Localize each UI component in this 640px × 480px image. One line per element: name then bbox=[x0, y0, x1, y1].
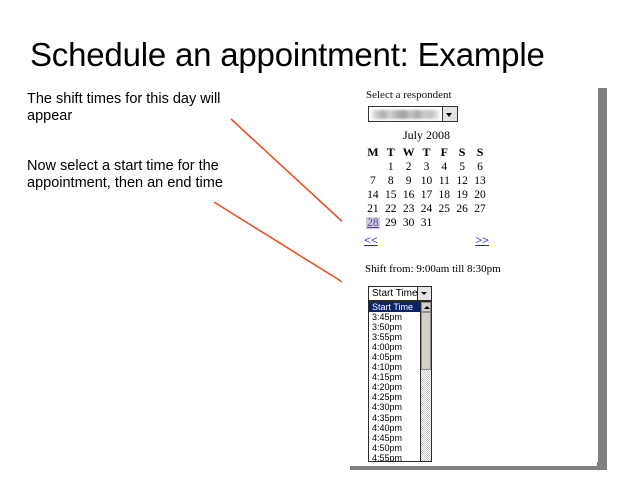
calendar-day[interactable]: 1 bbox=[382, 160, 400, 174]
respondent-select[interactable] bbox=[368, 106, 458, 122]
weekday-header: S bbox=[453, 145, 471, 160]
start-time-option[interactable]: 4:05pm bbox=[369, 352, 420, 362]
calendar-week-row: 14 15 16 17 18 19 20 bbox=[364, 188, 489, 202]
chevron-down-icon[interactable] bbox=[442, 107, 457, 121]
weekday-header: T bbox=[418, 145, 436, 160]
start-time-option[interactable]: 4:25pm bbox=[369, 392, 420, 402]
respondent-value-redacted bbox=[371, 110, 439, 119]
scrollbar-thumb[interactable] bbox=[421, 312, 431, 370]
start-time-option[interactable]: 4:55pm bbox=[369, 453, 420, 462]
page-title: Schedule an appointment: Example bbox=[30, 36, 620, 74]
calendar-day[interactable]: 15 bbox=[382, 188, 400, 202]
calendar-day-empty bbox=[364, 160, 382, 174]
calendar-day[interactable]: 19 bbox=[453, 188, 471, 202]
start-time-option[interactable]: 4:45pm bbox=[369, 433, 420, 443]
calendar-day[interactable]: 8 bbox=[382, 174, 400, 188]
scroll-up-arrow-icon[interactable] bbox=[421, 302, 431, 312]
calendar-day[interactable]: 23 bbox=[400, 202, 418, 216]
calendar-day[interactable]: 14 bbox=[364, 188, 382, 202]
weekday-header: W bbox=[400, 145, 418, 160]
calendar-day[interactable]: 17 bbox=[418, 188, 436, 202]
calendar: July 2008 M T W T F S S bbox=[364, 128, 489, 249]
calendar-week-row: 21 22 23 24 25 26 27 bbox=[364, 202, 489, 216]
calendar-month-label: July 2008 bbox=[364, 128, 489, 145]
calendar-day[interactable]: 16 bbox=[400, 188, 418, 202]
start-time-option[interactable]: 4:00pm bbox=[369, 342, 420, 352]
calendar-day[interactable]: 21 bbox=[364, 202, 382, 216]
start-time-option[interactable]: 4:50pm bbox=[369, 443, 420, 453]
calendar-next-month-link[interactable]: >> bbox=[475, 233, 489, 248]
start-time-option[interactable]: 3:55pm bbox=[369, 332, 420, 342]
start-time-select[interactable]: Start Time bbox=[368, 286, 432, 301]
calendar-day[interactable]: 12 bbox=[453, 174, 471, 188]
start-time-option[interactable]: 4:15pm bbox=[369, 372, 420, 382]
start-time-option[interactable]: 4:10pm bbox=[369, 362, 420, 372]
weekday-header: F bbox=[435, 145, 453, 160]
calendar-day[interactable]: 25 bbox=[435, 202, 453, 216]
calendar-day[interactable]: 20 bbox=[471, 188, 489, 202]
start-time-option[interactable]: 3:50pm bbox=[369, 322, 420, 332]
calendar-day[interactable]: 18 bbox=[435, 188, 453, 202]
start-time-options: Start Time 3:45pm 3:50pm 3:55pm 4:00pm 4… bbox=[369, 302, 420, 462]
calendar-day[interactable]: 6 bbox=[471, 160, 489, 174]
calendar-day[interactable]: 4 bbox=[435, 160, 453, 174]
calendar-week-row: 1 2 3 4 5 6 bbox=[364, 160, 489, 174]
slide-canvas: Schedule an appointment: Example The shi… bbox=[0, 0, 640, 480]
calendar-day[interactable]: 5 bbox=[453, 160, 471, 174]
panel-shadow-right bbox=[598, 88, 607, 470]
calendar-day[interactable]: 31 bbox=[418, 216, 436, 230]
calendar-day[interactable]: 9 bbox=[400, 174, 418, 188]
weekday-header: T bbox=[382, 145, 400, 160]
annotation-select-start-time: Now select a start time for the appointm… bbox=[27, 158, 272, 192]
calendar-day[interactable]: 29 bbox=[382, 216, 400, 230]
shift-hours-text: Shift from: 9:00am till 8:30pm bbox=[365, 263, 501, 275]
calendar-prev-month-link[interactable]: << bbox=[364, 233, 378, 248]
start-time-option[interactable]: 4:30pm bbox=[369, 402, 420, 412]
calendar-day-selected-label: 28 bbox=[366, 217, 380, 229]
calendar-day[interactable]: 3 bbox=[418, 160, 436, 174]
weekday-header: S bbox=[471, 145, 489, 160]
start-time-option[interactable]: 3:45pm bbox=[369, 312, 420, 322]
weekday-header: M bbox=[364, 145, 382, 160]
calendar-day[interactable]: 2 bbox=[400, 160, 418, 174]
calendar-day[interactable]: 13 bbox=[471, 174, 489, 188]
calendar-day[interactable]: 26 bbox=[453, 202, 471, 216]
embedded-app-screenshot: Select a respondent July 2008 M T W T F bbox=[342, 84, 597, 466]
calendar-day[interactable]: 10 bbox=[418, 174, 436, 188]
calendar-day[interactable]: 22 bbox=[382, 202, 400, 216]
start-time-option[interactable]: Start Time bbox=[369, 302, 420, 312]
calendar-day-empty bbox=[435, 216, 453, 230]
calendar-nav: << >> bbox=[364, 233, 489, 249]
start-time-option[interactable]: 4:40pm bbox=[369, 423, 420, 433]
calendar-grid: M T W T F S S 1 2 bbox=[364, 145, 489, 230]
calendar-day[interactable]: 11 bbox=[435, 174, 453, 188]
annotation-shift-times: The shift times for this day will appear bbox=[27, 91, 267, 125]
calendar-week-row: 7 8 9 10 11 12 13 bbox=[364, 174, 489, 188]
calendar-day-empty bbox=[453, 216, 471, 230]
calendar-day[interactable]: 30 bbox=[400, 216, 418, 230]
calendar-day-empty bbox=[471, 216, 489, 230]
start-time-option[interactable]: 4:35pm bbox=[369, 413, 420, 423]
calendar-day-selected[interactable]: 28 bbox=[364, 216, 382, 230]
start-time-option[interactable]: 4:20pm bbox=[369, 382, 420, 392]
calendar-header-row: M T W T F S S bbox=[364, 145, 489, 160]
calendar-day[interactable]: 7 bbox=[364, 174, 382, 188]
chevron-down-icon[interactable] bbox=[417, 287, 431, 300]
respondent-label: Select a respondent bbox=[366, 89, 452, 101]
start-time-option-list[interactable]: Start Time 3:45pm 3:50pm 3:55pm 4:00pm 4… bbox=[368, 301, 432, 462]
start-time-select-value: Start Time bbox=[372, 288, 418, 299]
start-time-scrollbar[interactable] bbox=[420, 302, 431, 461]
calendar-day[interactable]: 27 bbox=[471, 202, 489, 216]
calendar-week-row: 28 29 30 31 bbox=[364, 216, 489, 230]
calendar-day[interactable]: 24 bbox=[418, 202, 436, 216]
